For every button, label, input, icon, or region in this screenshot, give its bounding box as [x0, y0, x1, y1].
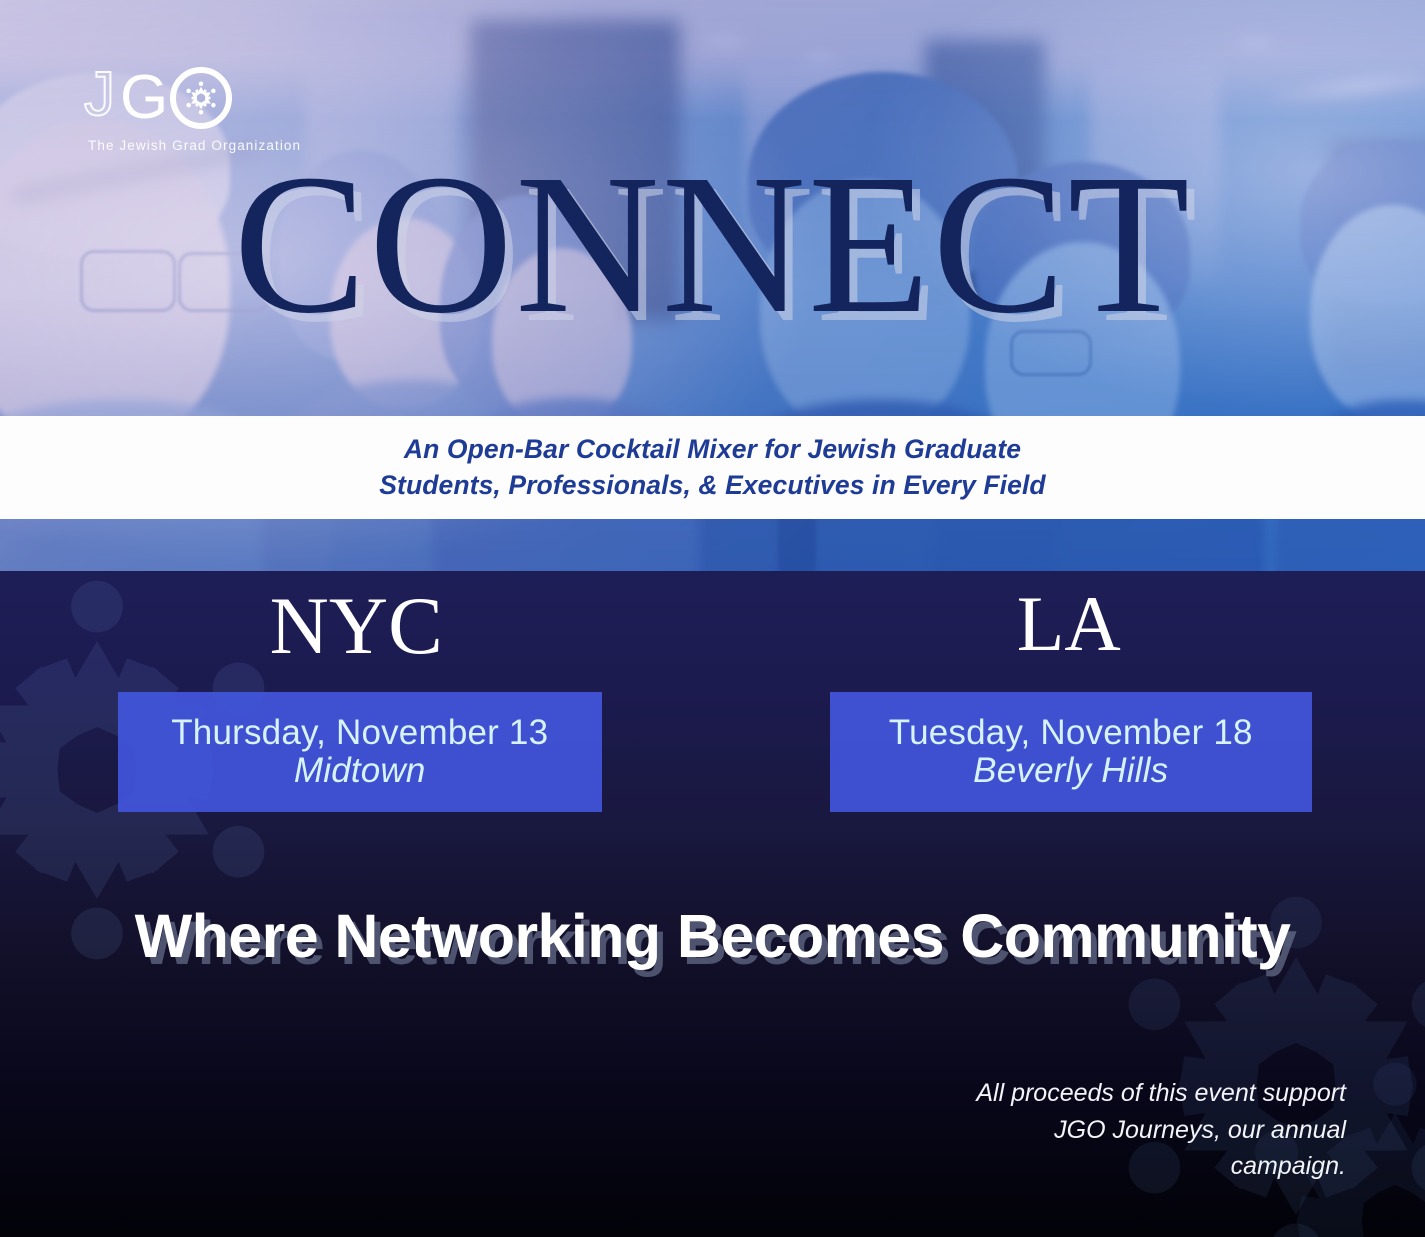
subtitle-line-2: Students, Professionals, & Executives in… [379, 468, 1045, 504]
event-date-nyc: Thursday, November 13 [171, 714, 548, 753]
event-place-la: Beverly Hills [973, 752, 1168, 791]
event-datebox-la[interactable]: Tuesday, November 18 Beverly Hills [830, 692, 1313, 812]
city-block-la: LA Tuesday, November 18 Beverly Hills [713, 571, 1425, 821]
city-block-nyc: NYC Thursday, November 13 Midtown [0, 571, 713, 821]
city-name-nyc: NYC [0, 585, 713, 667]
subtitle: An Open-Bar Cocktail Mixer for Jewish Gr… [379, 432, 1045, 503]
city-name-la: LA [713, 585, 1425, 663]
flyer-canvas: J G [0, 0, 1425, 1237]
details-section: NYC Thursday, November 13 Midtown LA Tue… [0, 571, 1425, 1237]
event-place-nyc: Midtown [294, 752, 426, 791]
event-date-la: Tuesday, November 18 [889, 714, 1253, 753]
event-datebox-nyc[interactable]: Thursday, November 13 Midtown [118, 692, 602, 812]
footer-note: All proceeds of this event support JGO J… [966, 1075, 1346, 1185]
subtitle-band: An Open-Bar Cocktail Mixer for Jewish Gr… [0, 416, 1425, 519]
city-list: NYC Thursday, November 13 Midtown LA Tue… [0, 571, 1425, 821]
subtitle-line-1: An Open-Bar Cocktail Mixer for Jewish Gr… [404, 434, 1021, 464]
tagline: Where Networking Becomes Community [0, 901, 1425, 971]
